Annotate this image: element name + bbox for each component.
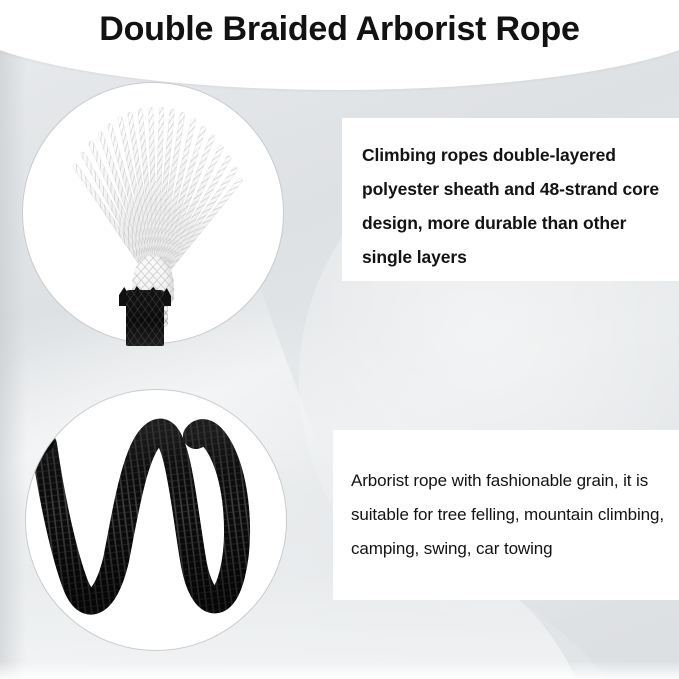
feature-text-construction: Climbing ropes double-layered polyester … [362,138,663,274]
rope-path-shading [44,432,237,602]
feature-text-usage: Arborist rope with fashionable grain, it… [351,464,669,566]
rope-tail-left [40,414,50,442]
product-feature-image: Double Braided Arborist Rope [0,0,679,679]
page-title: Double Braided Arborist Rope [0,10,679,49]
black-rope-illustration [26,390,286,650]
feature-text-panel-usage: Arborist rope with fashionable grain, it… [333,430,679,600]
rope-black-sheath-cuff [126,290,164,346]
feature-text-panel-construction: Climbing ropes double-layered polyester … [342,118,679,281]
background-edge-bottom-highlight [0,661,679,679]
product-photo-black-rope [25,389,287,651]
